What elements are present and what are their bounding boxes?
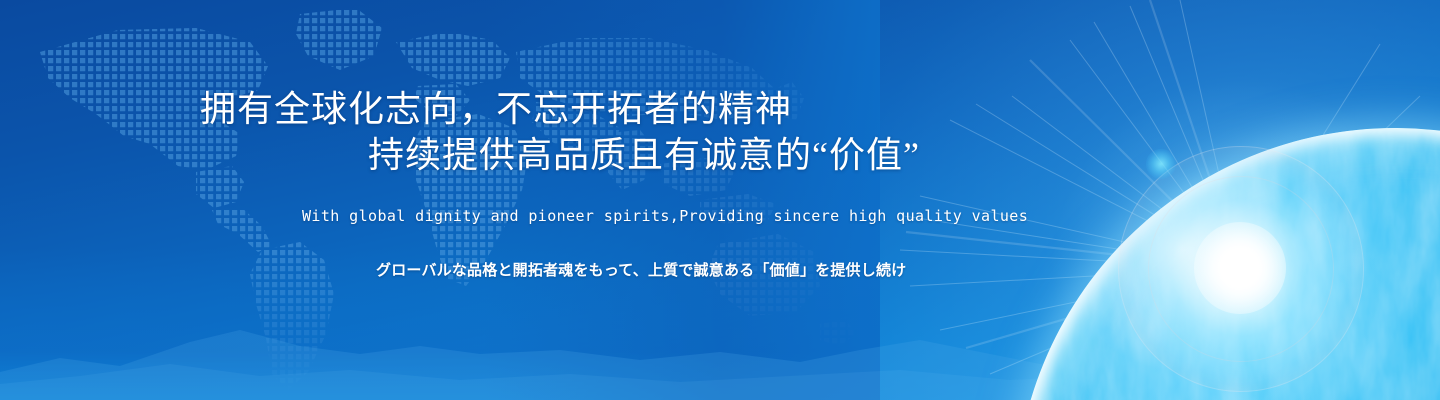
planet-globe-graphic [920, 0, 1440, 400]
subtitle-english: With global dignity and pioneer spirits,… [302, 206, 1028, 226]
headline-line-1: 拥有全球化志向，不忘开拓者的精神 [200, 89, 792, 129]
mountain-silhouette [0, 280, 1440, 400]
world-map-graphic [0, 0, 880, 394]
planet-body [1015, 128, 1440, 400]
light-rays-graphic [880, 0, 1440, 400]
lens-flare-orb [1146, 149, 1176, 179]
sun-halo-ring-inner [1148, 176, 1334, 362]
subtitle-japanese: グローバルな品格と開拓者魂をもって、上質で誠意ある「価値」を提供し続け [376, 259, 906, 281]
headline: 拥有全球化志向，不忘开拓者的精神 持续提供高品质且有诚意的“价值” [200, 86, 920, 178]
ambient-light-wash [0, 0, 1440, 400]
planet-surface-texture [1015, 128, 1440, 400]
world-map-fade [0, 0, 880, 400]
copy-block: 拥有全球化志向，不忘开拓者的精神 持续提供高品质且有诚意的“价值” With g… [0, 0, 1060, 400]
sun-halo-ring [1118, 146, 1364, 392]
headline-line-2: 持续提供高品质且有诚意的“价值” [200, 132, 920, 178]
planet-rim-light [1015, 128, 1440, 400]
hero-banner: 拥有全球化志向，不忘开拓者的精神 持续提供高品质且有诚意的“价值” With g… [0, 0, 1440, 400]
